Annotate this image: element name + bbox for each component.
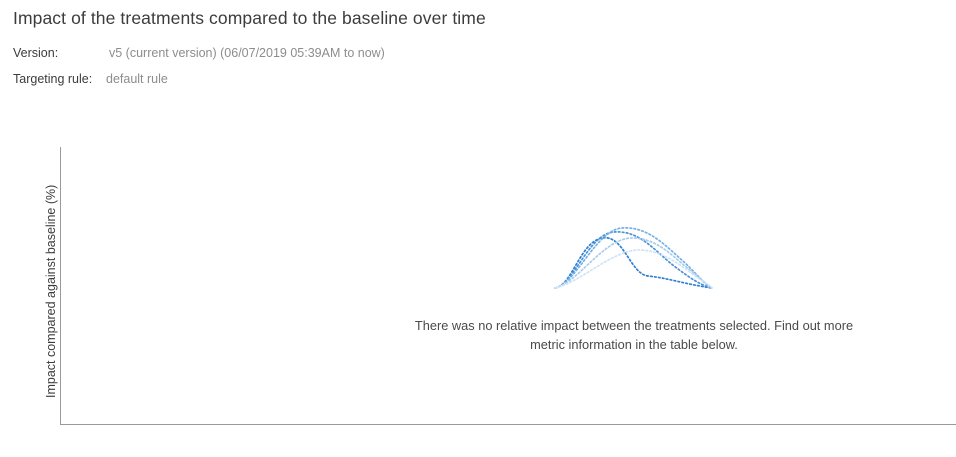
y-axis-line [60,147,61,425]
x-axis-line [60,424,956,425]
y-axis-label: Impact compared against baseline (%) [44,138,58,398]
empty-state-message: There was no relative impact between the… [356,316,912,354]
empty-state: There was no relative impact between the… [356,212,912,354]
impact-chart: Impact compared against baseline (%) The… [0,0,956,457]
no-data-curves-icon [544,212,724,302]
